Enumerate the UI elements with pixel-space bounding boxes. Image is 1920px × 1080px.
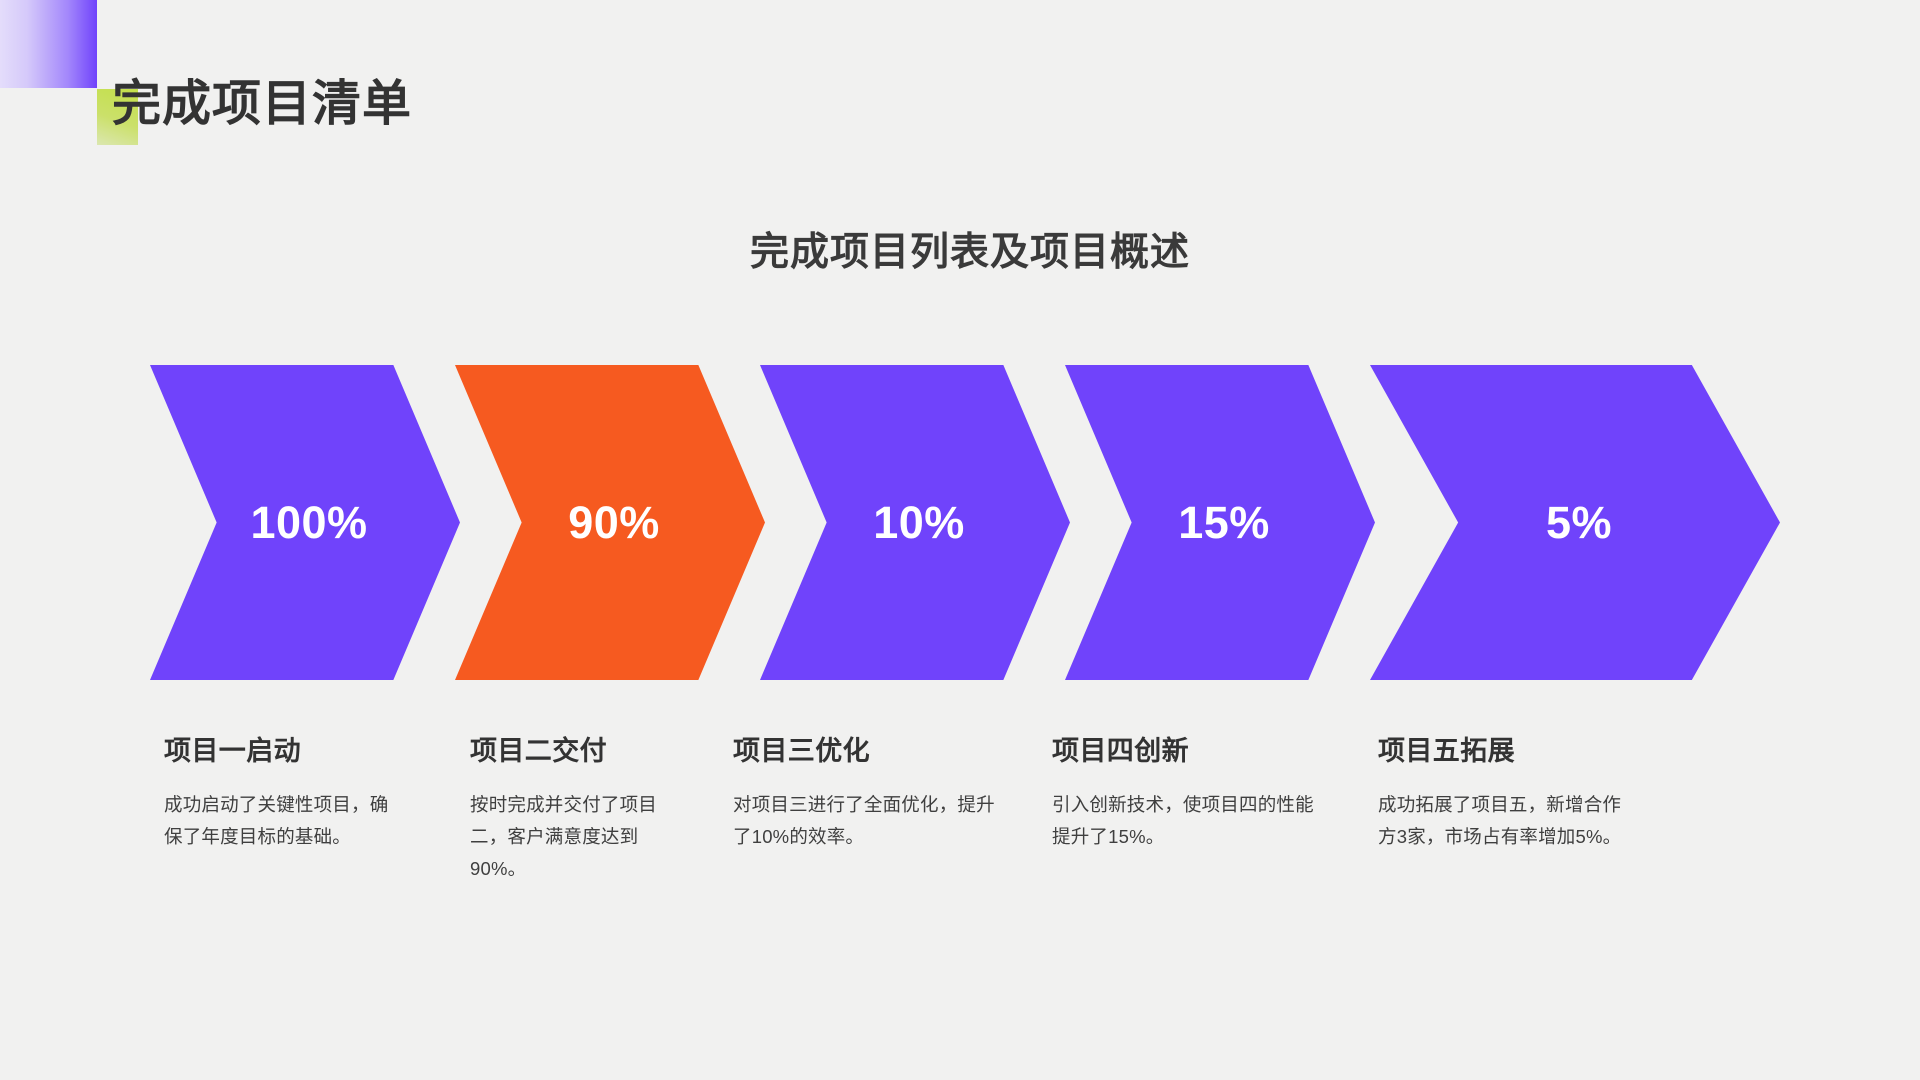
- step-body-text: 按时完成并交付了项目二，客户满意度达到90%。: [470, 789, 686, 884]
- step-heading: 项目三优化: [733, 735, 995, 767]
- chevron-percent-label: 15%: [1178, 500, 1270, 545]
- step-description-3: 项目三优化对项目三进行了全面优化，提升了10%的效率。: [733, 735, 995, 853]
- step-description-4: 项目四创新引入创新技术，使项目四的性能提升了15%。: [1052, 735, 1314, 853]
- chevron-step-5[interactable]: 5%: [1370, 365, 1780, 680]
- chevron-step-1[interactable]: 100%: [150, 365, 460, 680]
- step-description-2: 项目二交付按时完成并交付了项目二，客户满意度达到90%。: [470, 735, 686, 885]
- step-heading: 项目二交付: [470, 735, 686, 767]
- chevron-step-2[interactable]: 90%: [455, 365, 765, 680]
- purple-gradient-bar-decoration: [0, 0, 97, 88]
- step-description-1: 项目一启动成功启动了关键性项目，确保了年度目标的基础。: [164, 735, 406, 853]
- chevron-percent-label: 5%: [1546, 500, 1612, 545]
- page-title: 完成项目清单: [112, 80, 412, 129]
- step-heading: 项目五拓展: [1378, 735, 1626, 767]
- chevron-percent-label: 100%: [250, 500, 367, 545]
- step-body-text: 成功拓展了项目五，新增合作方3家，市场占有率增加5%。: [1378, 789, 1626, 853]
- step-body-text: 成功启动了关键性项目，确保了年度目标的基础。: [164, 789, 406, 853]
- chevron-percent-label: 90%: [568, 500, 660, 545]
- step-body-text: 对项目三进行了全面优化，提升了10%的效率。: [733, 789, 995, 853]
- chevron-process-band: 100%90%10%15%5%: [0, 365, 1920, 680]
- chevron-step-3[interactable]: 10%: [760, 365, 1070, 680]
- step-body-text: 引入创新技术，使项目四的性能提升了15%。: [1052, 789, 1314, 853]
- chevron-percent-label: 10%: [873, 500, 965, 545]
- slide-subtitle-text: 完成项目列表及项目概述: [750, 230, 1190, 277]
- step-heading: 项目一启动: [164, 735, 406, 767]
- chevron-step-4[interactable]: 15%: [1065, 365, 1375, 680]
- slide-canvas: 完成项目清单 完成项目列表及项目概述 100%90%10%15%5% 项目一启动…: [0, 0, 1920, 1080]
- step-heading: 项目四创新: [1052, 735, 1314, 767]
- slide-subtitle: 完成项目列表及项目概述: [0, 230, 1920, 277]
- step-description-5: 项目五拓展成功拓展了项目五，新增合作方3家，市场占有率增加5%。: [1378, 735, 1626, 853]
